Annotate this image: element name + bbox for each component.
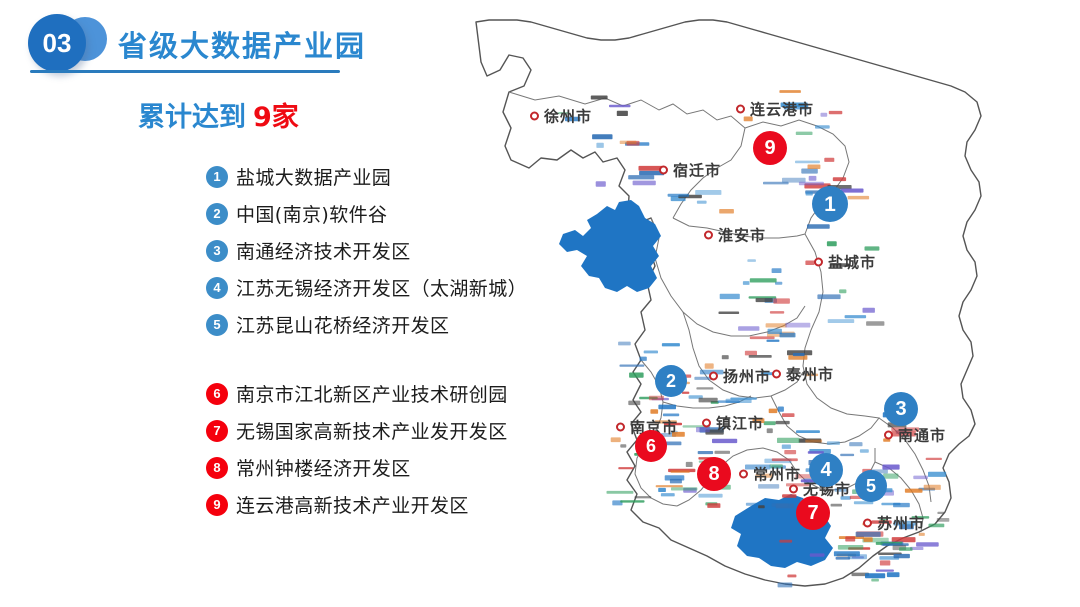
city-name-text: 淮安市 [718,225,766,246]
city-marker-dot-icon [789,485,798,494]
list-item-badge: 6 [206,383,228,405]
page-title: 省级大数据产业园 [118,23,366,65]
company-logo-speck [686,462,693,467]
company-logo-speck [863,308,875,313]
company-logo-speck [795,161,820,164]
company-logo-speck [596,181,606,186]
company-logo-speck [807,224,830,229]
company-logo-speck [836,557,851,560]
company-logo-speck [618,342,631,346]
list-item-label: 南通经济技术开发区 [236,237,411,264]
company-logo-speck [743,281,750,285]
company-logo-speck [758,505,765,508]
company-logo-speck [827,441,840,445]
company-logo-speck [746,503,759,506]
company-logo-speck [767,428,773,433]
company-logo-speck [845,536,855,541]
company-logo-speck [880,560,890,565]
company-logo-speck [808,165,821,170]
city-name-text: 镇江市 [716,413,764,434]
company-logo-speck [629,373,644,378]
company-logo-speck [928,472,946,477]
map-marker-3[interactable]: 3 [884,392,918,426]
company-logo-speck [893,503,910,507]
list-item-badge: 4 [206,277,228,299]
map-marker-8[interactable]: 8 [697,457,731,491]
city-marker-dot-icon [814,258,823,267]
company-logo-speck [778,583,793,588]
city-label: 连云港市 [736,99,814,120]
list-item-badge: 9 [206,494,228,516]
city-marker-dot-icon [702,419,711,428]
company-logo-speck [730,398,757,400]
company-logo-speck [785,323,810,328]
company-logo-speck [828,319,855,323]
map-marker-2[interactable]: 2 [655,365,687,397]
city-name-text: 泰州市 [786,364,834,385]
company-logo-speck [866,321,884,326]
company-logo-speck [620,365,645,367]
company-logo-speck [770,311,784,314]
company-logo-speck [810,553,825,556]
company-logo-speck [916,542,939,546]
company-logo-speck [839,289,846,293]
company-logo-speck [738,326,759,331]
slide-root: 03 省级大数据产业园 累计达到9家 1盐城大数据产业园2中国(南京)软件谷3南… [0,0,1080,607]
company-logo-speck [827,241,837,246]
company-logo-speck [766,323,787,327]
city-name-text: 徐州市 [544,106,592,127]
company-logo-speck [848,196,870,200]
map-svg [445,0,1080,607]
company-logo-speck [658,488,666,492]
company-logo-speck [718,400,740,403]
company-logo-speck [840,454,854,456]
company-logo-speck [609,105,631,108]
company-logo-speck [937,518,950,522]
list-item-label: 常州钟楼经济开发区 [236,454,411,481]
company-logo-speck [772,268,782,273]
company-logo-speck [649,396,664,401]
company-logo-speck [719,312,740,315]
company-logo-speck [750,278,777,282]
map-marker-6[interactable]: 6 [635,430,667,462]
company-logo-speck [722,355,729,359]
company-logo-speck [801,169,818,174]
company-logo-speck [865,246,880,250]
city-marker-dot-icon [736,105,745,114]
company-logo-speck [682,392,689,394]
company-logo-speck [780,333,796,338]
city-label: 盐城市 [814,252,876,273]
company-logo-speck [817,294,840,299]
company-logo-speck [926,458,942,460]
city-label: 苏州市 [863,513,925,534]
company-logo-speck [865,573,885,578]
list-item-badge: 8 [206,457,228,479]
city-label: 泰州市 [772,364,834,385]
city-label: 镇江市 [702,413,764,434]
company-logo-speck [834,551,860,556]
company-logo-speck [658,405,676,410]
company-logo-speck [758,484,779,489]
city-marker-dot-icon [772,370,781,379]
list-item-badge: 5 [206,314,228,336]
list-item-badge: 2 [206,203,228,225]
city-name-text: 扬州市 [723,366,771,387]
company-logo-speck [782,413,795,417]
list-item-label: 盐城大数据产业园 [236,163,391,190]
company-logo-speck [905,489,923,493]
title-underline [30,70,340,73]
company-logo-speck [829,111,843,114]
company-logo-speck [697,201,707,204]
company-logo-speck [849,442,862,446]
city-marker-dot-icon [739,470,748,479]
company-logo-speck [824,158,834,162]
company-logo-speck [695,190,721,195]
company-logo-speck [937,512,944,514]
company-logo-speck [929,524,945,528]
section-number-text: 03 [43,30,72,56]
company-logo-speck [779,90,801,93]
company-logo-speck [745,351,757,356]
company-logo-speck [887,572,900,577]
city-label: 扬州市 [709,366,771,387]
company-logo-speck [882,465,899,470]
company-logo-speck [650,409,658,414]
company-logo-speck [592,134,612,139]
company-logo-speck [924,485,941,490]
city-label: 徐州市 [530,106,592,127]
company-logo-speck [913,476,928,480]
company-logo-speck [838,545,863,550]
company-logo-speck [883,474,898,479]
list-item-label: 连云港高新技术产业开发区 [236,491,469,518]
company-logo-speck [756,298,773,302]
subtitle-prefix: 累计达到 [138,102,246,133]
city-marker-dot-icon [530,112,539,121]
company-logo-speck [809,176,817,181]
company-logo-speck [668,194,689,197]
company-logo-speck [628,175,654,179]
company-logo-speck [719,209,734,214]
company-logo-speck [799,182,824,186]
company-logo-speck [671,487,697,490]
company-logo-speck [805,440,822,443]
subtitle: 累计达到9家 [138,95,299,134]
company-logo-speck [671,470,690,473]
company-logo-speck [894,554,910,558]
company-logo-speck [778,407,784,412]
company-logo-speck [864,537,873,542]
company-logo-speck [899,547,912,551]
city-marker-dot-icon [659,166,668,175]
company-logo-speck [806,192,813,196]
company-logo-speck [715,451,731,454]
map-marker-5[interactable]: 5 [855,470,887,502]
company-logo-speck [763,182,789,185]
company-logo-speck [777,438,800,443]
company-logo-speck [747,259,756,262]
city-name-text: 南通市 [898,425,946,446]
city-label: 淮安市 [704,225,766,246]
company-logo-speck [611,437,621,442]
company-logo-speck [784,450,796,454]
company-logo-speck [620,444,626,447]
company-logo-speck [661,493,675,496]
company-logo-speck [764,421,776,425]
company-logo-speck [620,500,644,502]
city-marker-dot-icon [616,423,625,432]
company-logo-speck [696,387,713,389]
jiangsu-map: 徐州市连云港市宿迁市淮安市盐城市扬州市泰州市南京市镇江市南通市常州市无锡市苏州市… [445,0,1080,607]
map-marker-1[interactable]: 1 [812,186,848,222]
company-logo-speck [796,132,813,135]
city-name-text: 宿迁市 [673,160,721,181]
company-logo-speck [698,451,713,454]
city-marker-dot-icon [884,431,893,440]
company-logo-speck [871,579,879,582]
slide-header: 03 省级大数据产业园 [0,0,430,90]
company-logo-speck [596,143,603,148]
city-name-text: 连云港市 [750,99,814,120]
company-logo-speck [712,439,737,443]
company-logo-speck [698,494,722,498]
company-logo-speck [793,353,805,356]
company-logo-speck [772,503,789,507]
company-logo-speck [656,485,683,487]
company-logo-speck [831,504,842,507]
company-logo-speck [699,398,718,403]
list-item-label: 江苏昆山花桥经济开发区 [236,311,449,338]
company-logo-speck [782,445,791,449]
company-logo-speck [776,421,790,424]
city-label: 南通市 [884,425,946,446]
list-item-badge: 7 [206,420,228,442]
company-logo-speck [670,479,682,484]
city-marker-dot-icon [704,231,713,240]
company-logo-speck [644,351,658,354]
company-logo-speck [707,503,720,508]
company-logo-speck [787,575,796,578]
city-label: 宿迁市 [659,160,721,181]
company-logo-speck [796,430,820,433]
company-logo-speck [620,141,637,144]
company-logo-speck [892,537,916,542]
company-logo-speck [833,177,846,181]
company-logo-speck [860,449,869,453]
list-item-badge: 3 [206,240,228,262]
company-logo-speck [662,343,680,346]
company-logo-speck [821,113,828,117]
subtitle-count: 9家 [253,102,299,133]
company-logo-speck [876,570,894,572]
company-logo-speck [773,298,790,303]
map-marker-7[interactable]: 7 [796,496,830,530]
city-marker-dot-icon [709,372,718,381]
company-logo-speck [635,496,652,498]
company-logo-speck [779,540,792,543]
company-logo-speck [640,357,647,361]
list-item-badge: 1 [206,166,228,188]
company-logo-speck [617,111,628,116]
list-item-label: 中国(南京)软件谷 [236,200,387,227]
city-name-text: 盐城市 [828,252,876,273]
company-logo-speck [633,181,656,186]
company-logo-speck [749,355,772,358]
company-logo-speck [720,294,740,299]
city-marker-dot-icon [863,519,872,528]
company-logo-speck [628,401,640,406]
section-number-badge: 03 [28,14,86,72]
city-name-text: 苏州市 [877,513,925,534]
company-logo-speck [772,458,798,461]
company-logo-speck [815,125,830,128]
company-logo-speck [591,96,608,100]
company-logo-speck [769,409,778,414]
company-logo-speck [845,315,867,318]
company-logo-speck [767,340,780,342]
company-logo-speck [607,491,634,494]
map-marker-9[interactable]: 9 [753,131,787,165]
company-logo-speck [618,467,633,469]
map-marker-4[interactable]: 4 [809,453,843,487]
